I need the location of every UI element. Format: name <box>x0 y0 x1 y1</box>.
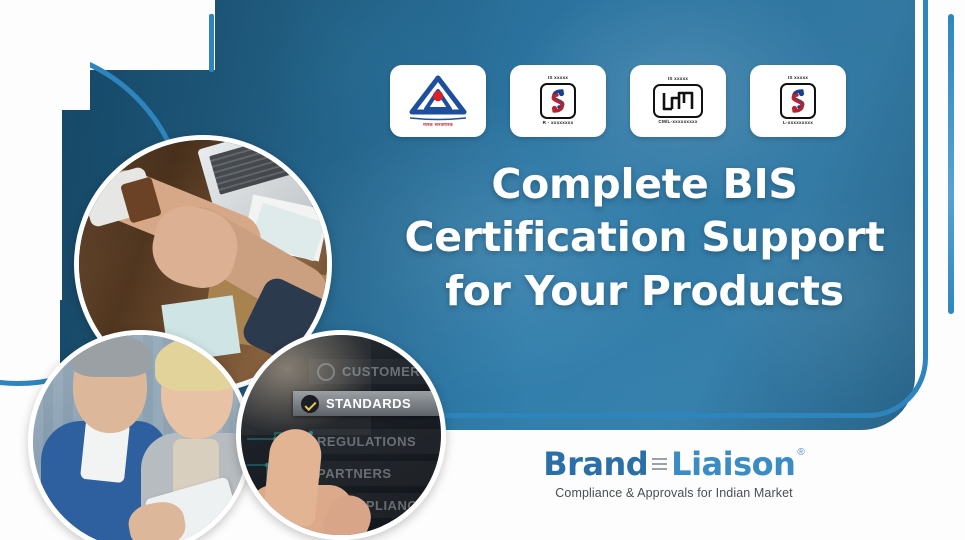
badge-isi-mark[interactable]: IS xxxxx CM/L-xxxxxxxxx <box>630 65 726 137</box>
checkbox-checked-icon <box>301 395 319 413</box>
isi-licence-number: CM/L-xxxxxxxxx <box>658 120 697 125</box>
bis-hindi-text: मानक भारतमानक <box>423 122 453 128</box>
headline-line-2: Certification Support <box>392 211 897 264</box>
arc-mask <box>0 0 90 110</box>
option-partners[interactable]: PARTNERS <box>309 461 446 486</box>
headline-line-1: Complete BIS <box>392 158 897 211</box>
badge-bis-licence-mark[interactable]: IS xxxxx L-xxxxxxxxx <box>750 65 846 137</box>
certification-badges: मानक भारतमानक IS xxxxx R - xxxxxxxx <box>390 65 846 137</box>
right-accent-line <box>948 14 954 314</box>
brand-tagline: Compliance & Approvals for Indian Market <box>524 486 824 500</box>
licence-number: L-xxxxxxxxx <box>783 121 813 126</box>
option-standards[interactable]: STANDARDS <box>293 391 446 416</box>
top-left-accent-line <box>209 14 214 72</box>
page-title: Complete BIS Certification Support for Y… <box>392 158 897 318</box>
crs-registration-number: R - xxxxxxxx <box>543 121 574 126</box>
banner-stage: मानक भारतमानक IS xxxxx R - xxxxxxxx <box>0 0 965 540</box>
crs-is-number: IS xxxxx <box>548 76 568 81</box>
isi-monogram-icon <box>653 84 703 118</box>
checkbox-icon <box>317 363 335 381</box>
brand-word-primary: Brand <box>543 448 648 480</box>
triple-bar-icon <box>652 448 667 470</box>
bis-triangle-icon: मानक भारतमानक <box>408 75 468 128</box>
headline-line-3: for Your Products <box>392 265 897 318</box>
brand-word-secondary: Liaison <box>671 448 795 480</box>
option-customer[interactable]: CUSTOMER <box>309 359 446 384</box>
registered-trademark-symbol: ® <box>797 448 804 458</box>
consultants-photo <box>28 330 252 540</box>
badge-bis-standard-mark[interactable]: मानक भारतमानक <box>390 65 486 137</box>
bis-underline <box>408 115 468 121</box>
crs-s-icon-2 <box>780 83 816 119</box>
isi-is-number: IS xxxxx <box>668 77 688 82</box>
badge-bis-crs-registration-mark[interactable]: IS xxxxx R - xxxxxxxx <box>510 65 606 137</box>
licence-is-number: IS xxxxx <box>788 76 808 81</box>
touchscreen-photo: CUSTOMER STANDARDS REGULATIONS PARTNERS … <box>236 330 446 540</box>
option-regulations[interactable]: REGULATIONS <box>309 429 446 454</box>
crs-s-icon <box>540 83 576 119</box>
brand-logo[interactable]: Brand Liaison ® Compliance & Approvals f… <box>524 448 824 500</box>
